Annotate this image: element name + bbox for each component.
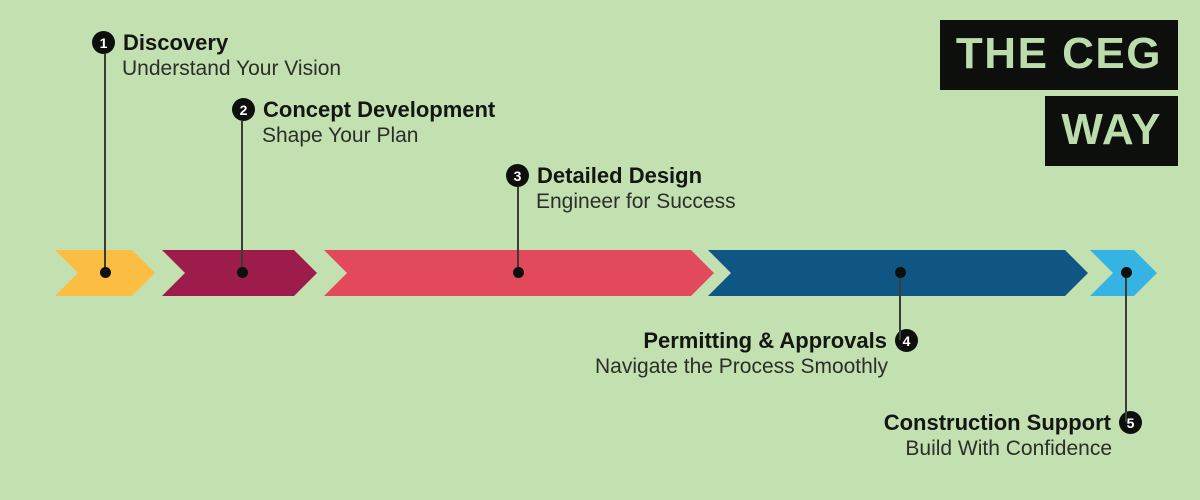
step-title-row-3: 3Detailed Design xyxy=(506,164,736,187)
step-title-5: Construction Support xyxy=(884,411,1111,434)
step-title-3: Detailed Design xyxy=(537,164,702,187)
connector-dot-4 xyxy=(895,267,906,278)
connector-dot-1 xyxy=(100,267,111,278)
step-title-row-1: 1Discovery xyxy=(92,31,341,54)
step-subtitle-2: Shape Your Plan xyxy=(232,124,495,148)
step-label-1: 1DiscoveryUnderstand Your Vision xyxy=(92,31,341,81)
step-title-row-4: Permitting & Approvals4 xyxy=(595,329,918,352)
step-number-badge-5: 5 xyxy=(1119,411,1142,434)
step-number-badge-3: 3 xyxy=(506,164,529,187)
step-subtitle-3: Engineer for Success xyxy=(506,190,736,214)
brand-logo: THE CEG WAY xyxy=(940,20,1178,166)
logo-line-2: WAY xyxy=(1045,96,1178,166)
step-subtitle-1: Understand Your Vision xyxy=(92,57,341,81)
connector-dot-5 xyxy=(1121,267,1132,278)
step-title-2: Concept Development xyxy=(263,98,495,121)
process-chevron-bar xyxy=(0,250,1200,296)
connector-line-3 xyxy=(517,187,519,272)
step-label-4: Permitting & Approvals4Navigate the Proc… xyxy=(595,329,918,379)
step-label-5: Construction Support5Build With Confiden… xyxy=(884,411,1142,461)
connector-line-4 xyxy=(899,272,901,340)
connector-line-5 xyxy=(1125,272,1127,422)
step-label-3: 3Detailed DesignEngineer for Success xyxy=(506,164,736,214)
connector-dot-3 xyxy=(513,267,524,278)
step-title-1: Discovery xyxy=(123,31,228,54)
step-title-row-2: 2Concept Development xyxy=(232,98,495,121)
connector-line-1 xyxy=(104,54,106,272)
logo-line-1: THE CEG xyxy=(940,20,1178,90)
step-number-badge-1: 1 xyxy=(92,31,115,54)
infographic-canvas: THE CEG WAY 1DiscoveryUnderstand Your Vi… xyxy=(0,0,1200,500)
connector-dot-2 xyxy=(237,267,248,278)
step-label-2: 2Concept DevelopmentShape Your Plan xyxy=(232,98,495,148)
step-title-4: Permitting & Approvals xyxy=(643,329,887,352)
connector-line-2 xyxy=(241,121,243,272)
step-subtitle-4: Navigate the Process Smoothly xyxy=(595,355,918,379)
step-title-row-5: Construction Support5 xyxy=(884,411,1142,434)
step-subtitle-5: Build With Confidence xyxy=(884,437,1142,461)
step-number-badge-2: 2 xyxy=(232,98,255,121)
